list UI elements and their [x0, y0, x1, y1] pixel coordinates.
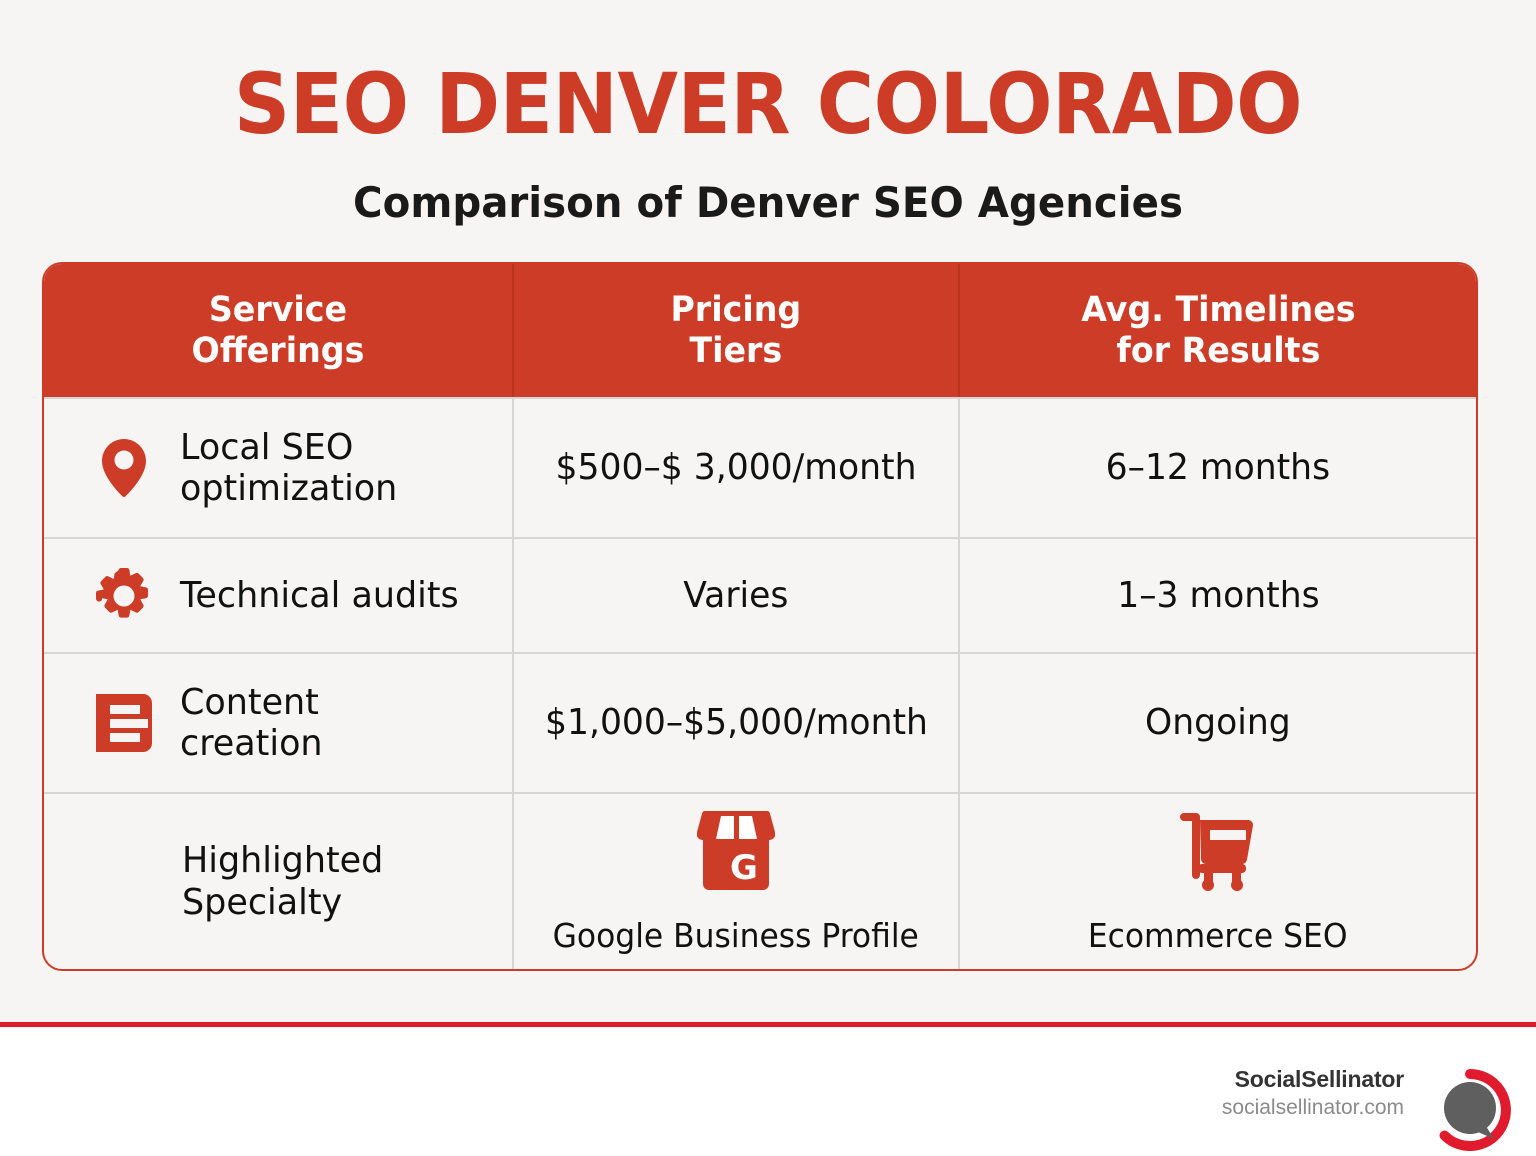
column-header-line2: Offerings	[192, 331, 365, 372]
column-header-service-offerings: Service Offerings	[44, 264, 512, 397]
service-offering-label: Highlighted Specialty	[182, 840, 383, 922]
page-title-text: SEO DENVER COLORADO	[234, 55, 1302, 153]
cell-service-offering: Technical audits	[44, 539, 512, 652]
pricing-value: $1,000–$5,000/month	[545, 701, 928, 744]
column-header-line2: Tiers	[671, 331, 802, 372]
infographic-page: SEO DENVER COLORADO Comparison of Denver…	[0, 0, 1536, 1154]
column-header-pricing-tiers: Pricing Tiers	[512, 264, 958, 397]
cell-pricing-tier: $1,000–$5,000/month	[512, 654, 958, 792]
column-header-line2: for Results	[1081, 331, 1355, 372]
cell-pricing-tier: Varies	[512, 539, 958, 652]
table-header-row: Service Offerings Pricing Tiers Avg. Tim…	[44, 264, 1476, 397]
service-offering-label: Local SEO optimization	[180, 427, 397, 509]
page-title: SEO DENVER COLORADO	[54, 62, 1482, 146]
table-row: Technical audits Varies 1–3 months	[44, 537, 1476, 652]
pricing-value: $500–$ 3,000/month	[556, 446, 917, 489]
table-row: Content creation $1,000–$5,000/month Ong…	[44, 652, 1476, 792]
socialsellinator-speech-bubble-logo	[1429, 1069, 1511, 1151]
cell-timeline: Ongoing	[958, 654, 1476, 792]
table-row: Highlighted Specialty G Google Business …	[44, 792, 1476, 969]
cell-service-offering: Local SEO optimization	[44, 399, 512, 537]
cell-pricing-specialty: G Google Business Profile	[512, 794, 958, 969]
timeline-value: 1–3 months	[1117, 574, 1319, 617]
pricing-value: Varies	[683, 574, 788, 617]
page-subtitle: Comparison of Denver SEO Agencies	[31, 182, 1506, 224]
cell-timeline-specialty: Ecommerce SEO	[958, 794, 1476, 969]
document-lines-icon	[94, 692, 154, 754]
cell-service-offering: Content creation	[44, 654, 512, 792]
cell-timeline: 1–3 months	[958, 539, 1476, 652]
pricing-specialty-label: Google Business Profile	[553, 916, 919, 956]
brand-block: SocialSellinator socialsellinator.com	[1222, 1065, 1404, 1121]
cell-pricing-tier: $500–$ 3,000/month	[512, 399, 958, 537]
comparison-table: Service Offerings Pricing Tiers Avg. Tim…	[42, 262, 1478, 971]
table-row: Local SEO optimization $500–$ 3,000/mont…	[44, 397, 1476, 537]
column-header-line1: Service	[192, 290, 365, 331]
timeline-specialty-label: Ecommerce SEO	[1088, 916, 1348, 956]
storefront-g-icon: G	[697, 808, 775, 902]
timeline-value: Ongoing	[1145, 701, 1291, 744]
timeline-value: 6–12 months	[1106, 446, 1330, 489]
service-offering-label: Technical audits	[180, 575, 459, 616]
cell-timeline: 6–12 months	[958, 399, 1476, 537]
page-footer: SocialSellinator socialsellinator.com	[0, 1027, 1536, 1154]
page-subtitle-text: Comparison of Denver SEO Agencies	[353, 178, 1183, 227]
shopping-cart-icon	[1180, 808, 1256, 902]
service-offering-label: Content creation	[180, 682, 323, 764]
brand-url: socialsellinator.com	[1222, 1094, 1404, 1121]
gear-icon	[94, 565, 154, 627]
column-header-line1: Avg. Timelines	[1081, 290, 1355, 331]
brand-name: SocialSellinator	[1222, 1065, 1404, 1094]
location-pin-icon	[94, 437, 154, 499]
column-header-line1: Pricing	[671, 290, 802, 331]
cell-service-offering: Highlighted Specialty	[44, 794, 512, 969]
column-header-avg-timelines: Avg. Timelines for Results	[958, 264, 1476, 397]
svg-text:G: G	[730, 848, 758, 888]
